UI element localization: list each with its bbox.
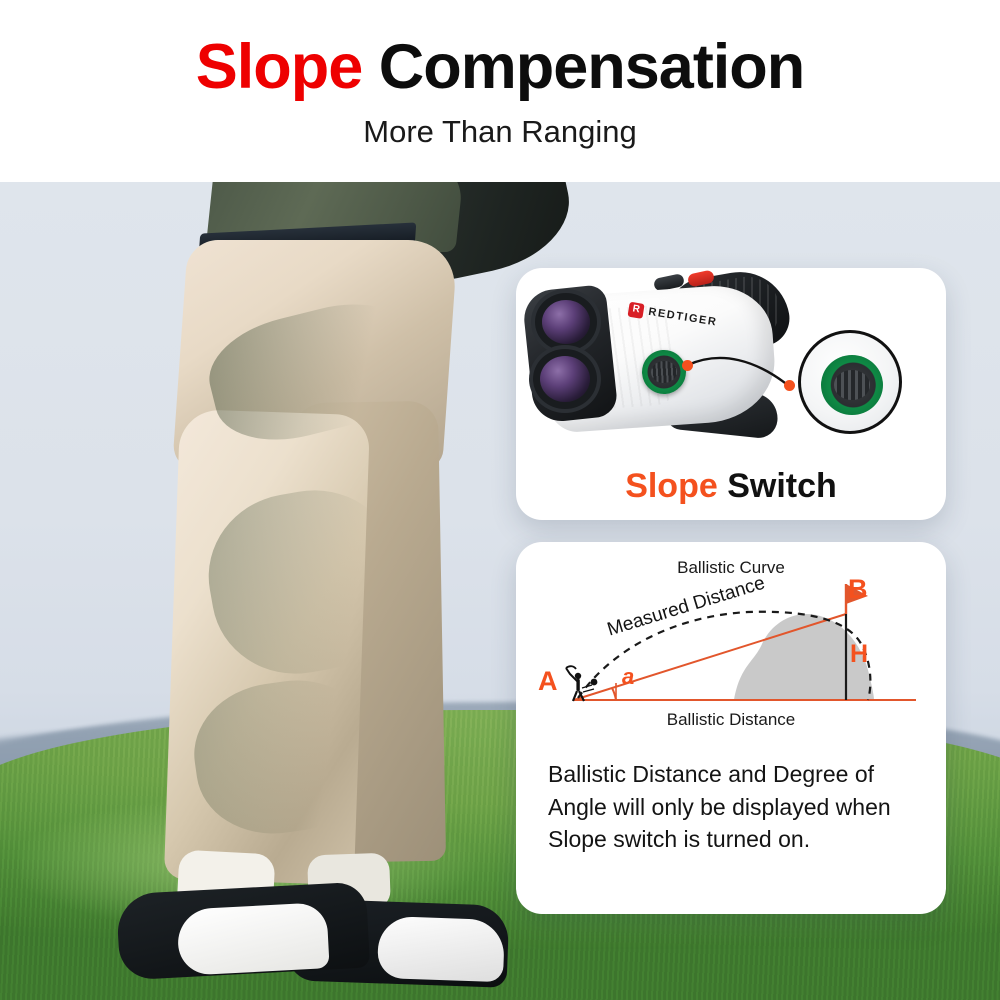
label-angle: a [622,664,634,690]
caption-dark-word: Switch [718,467,837,505]
golf-ball-icon [591,679,598,686]
golf-shoe-front-toe [176,902,329,976]
slope-switch-caption: Slope Switch [516,467,946,506]
headline-red-word: Slope [196,32,363,102]
caption-orange-word: Slope [625,467,718,505]
slope-note-text: Ballistic Distance and Degree of Angle w… [548,758,918,856]
label-height: H [850,640,868,669]
label-point-b: B [848,574,868,605]
callout-dot-target [784,380,795,391]
slope-switch-card: R REDTIGER Slope Switch [516,268,946,520]
golfer-silhouette-icon [566,666,584,701]
objective-lens-upper [542,300,590,344]
headline-dark-word: Compensation [362,32,804,102]
label-ballistic-distance: Ballistic Distance [516,710,946,730]
golfer-figure [60,182,530,962]
magnified-slope-switch [821,355,883,415]
magnified-callout [798,330,902,434]
page-subtitle: More Than Ranging [363,114,636,150]
header-band: Slope Compensation More Than Ranging [0,0,1000,182]
label-point-a: A [538,666,558,697]
rangefinder-illustration: R REDTIGER [516,268,946,458]
callout-dot-source [682,360,693,371]
product-marketing-page: Slope Compensation More Than Ranging [0,0,1000,1000]
motion-lines [582,685,594,692]
golf-shoe-back-toe [377,916,505,982]
objective-lens-lower [540,356,590,402]
ballistic-diagram-card: Ballistic Curve [516,542,946,914]
redtiger-mark-icon: R [628,301,645,318]
page-title: Slope Compensation [196,34,805,100]
